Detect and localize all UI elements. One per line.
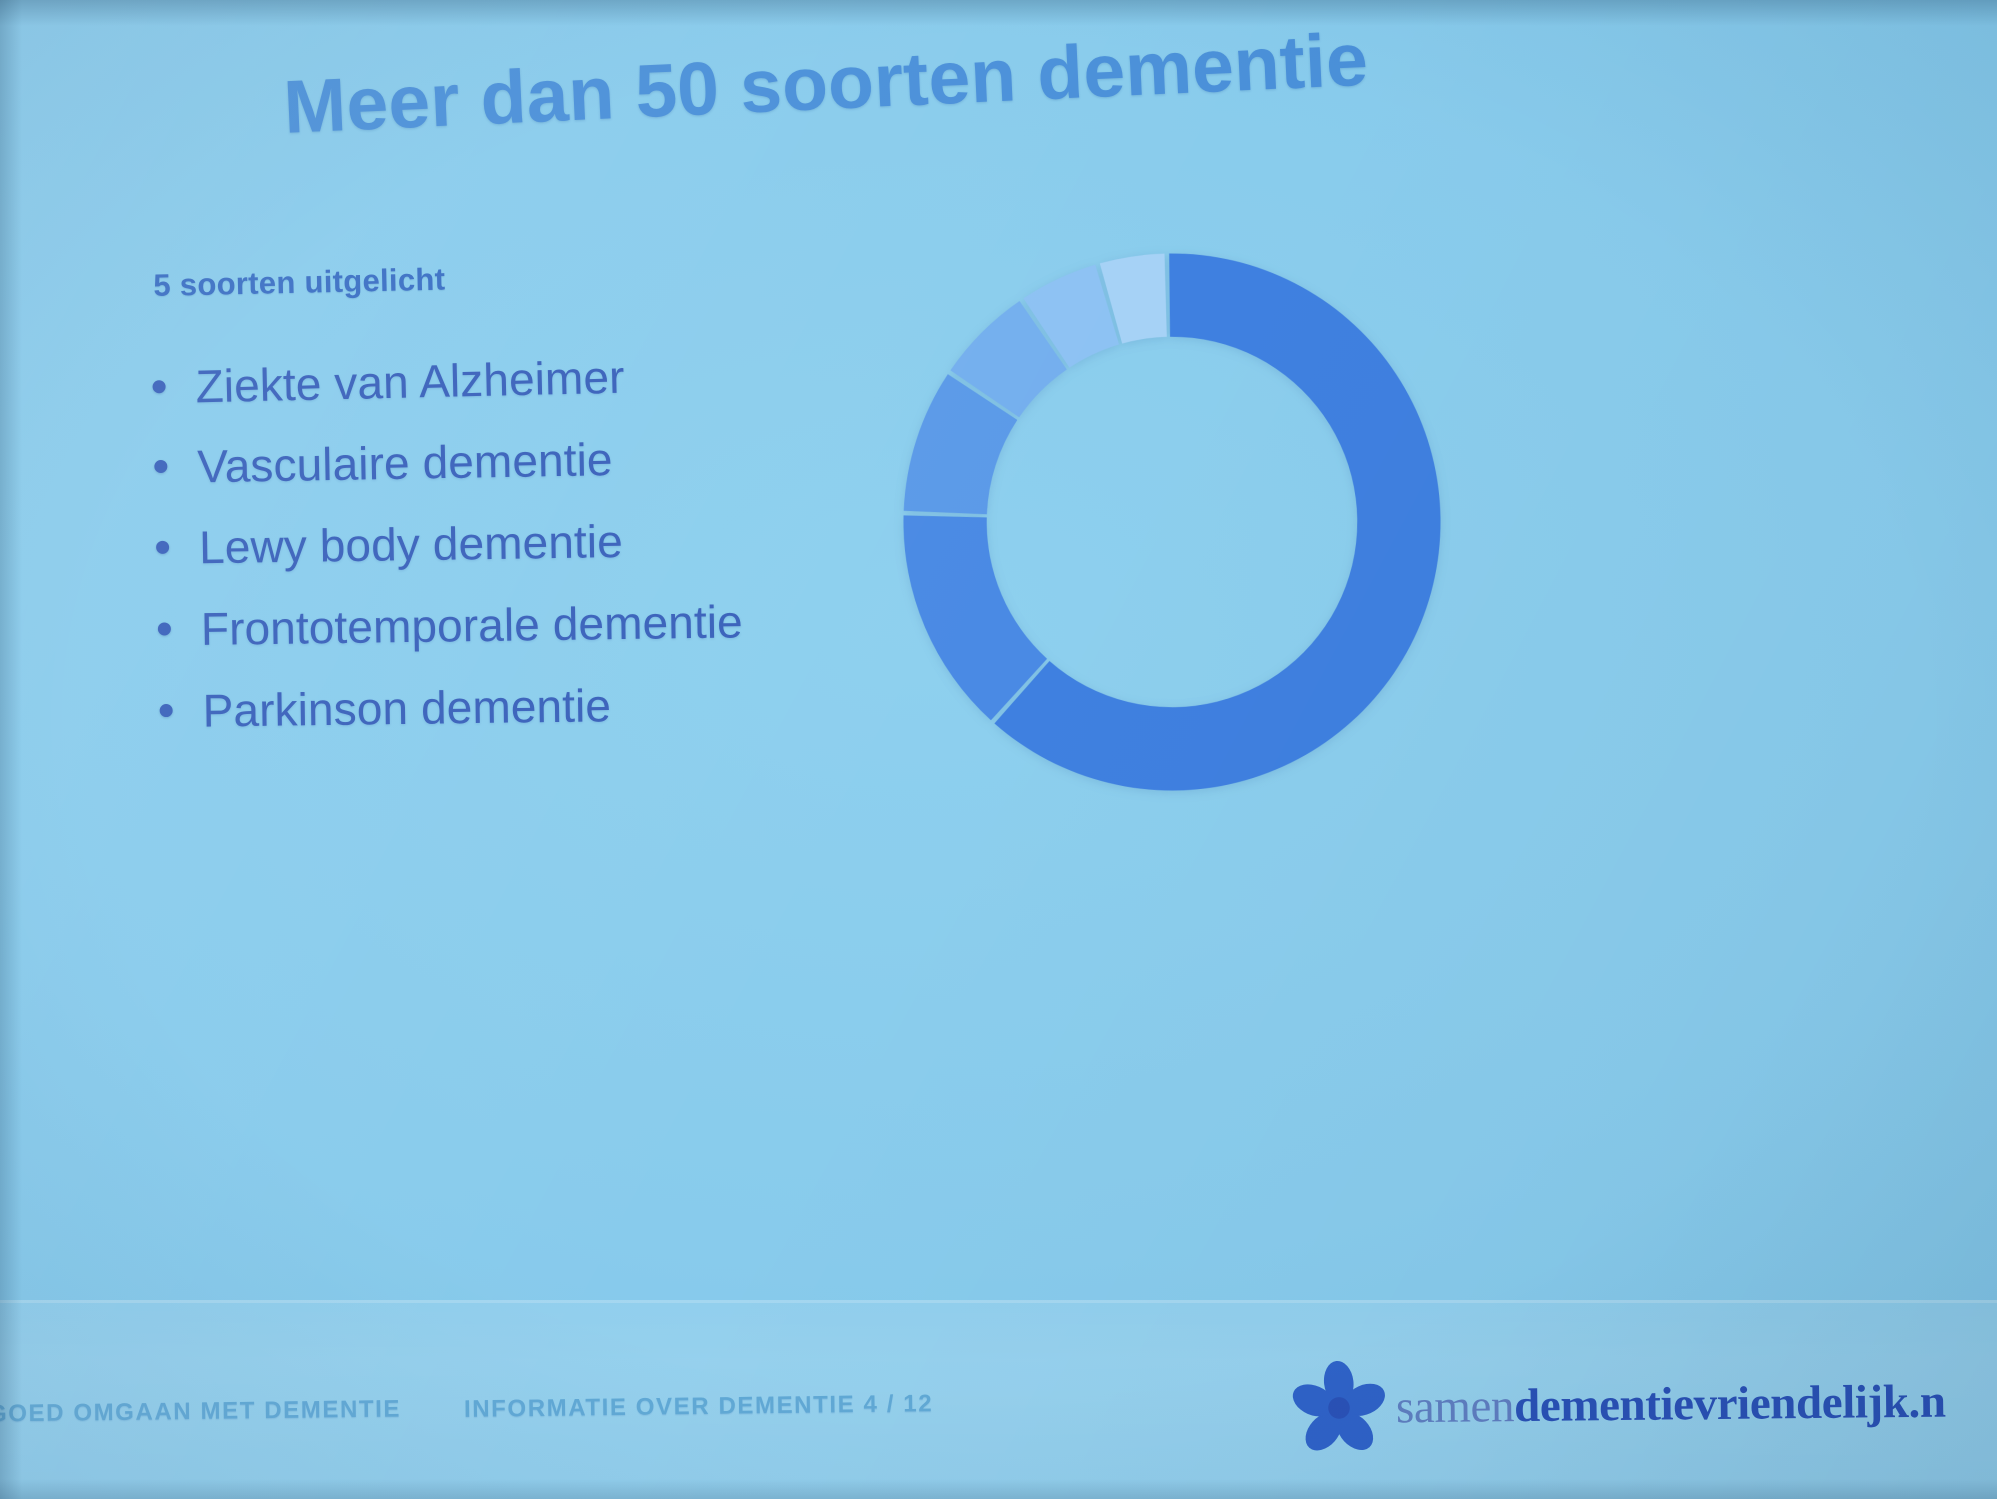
footer-band-divider [0, 1300, 1997, 1303]
flower-icon [1290, 1358, 1389, 1457]
bullet-dot-icon [154, 460, 167, 473]
donut-chart [893, 243, 1451, 801]
list-item-label: Lewy body dementie [199, 514, 623, 574]
dementia-types-list: Ziekte van Alzheimer Vasculaire dementie… [152, 341, 1020, 742]
list-item: Frontotemporale dementie [158, 591, 1019, 657]
list-item: Lewy body dementie [156, 508, 1017, 575]
content-column: 5 soorten uitgelicht Ziekte van Alzheime… [150, 249, 1021, 770]
list-item: Parkinson dementie [159, 673, 1020, 738]
list-item: Vasculaire dementie [154, 425, 1015, 494]
list-item-label: Parkinson dementie [202, 678, 611, 737]
bullet-dot-icon [160, 704, 173, 717]
presentation-slide: Meer dan 50 soorten dementie 5 soorten u… [0, 0, 1997, 1499]
bullet-dot-icon [156, 541, 169, 554]
bullet-dot-icon [152, 380, 165, 393]
footer-left-label: GOED OMGAAN MET DEMENTIE [0, 1395, 401, 1428]
brand-logo-text-bold: dementievriendelijk.n [1514, 1376, 1946, 1433]
list-item: Ziekte van Alzheimer [152, 341, 1013, 414]
list-item-label: Vasculaire dementie [197, 432, 613, 493]
list-item-label: Ziekte van Alzheimer [195, 350, 625, 414]
footer-section-label: INFORMATIE OVER DEMENTIE 4 / 12 [464, 1390, 934, 1424]
bullet-dot-icon [158, 622, 171, 635]
donut-chart-svg [893, 243, 1451, 801]
brand-logo-text: samendementievriendelijk.n [1396, 1375, 1946, 1435]
brand-logo[interactable]: samendementievriendelijk.n [1290, 1353, 1947, 1458]
list-item-label: Frontotemporale dementie [201, 594, 744, 656]
brand-logo-text-light: samen [1396, 1380, 1515, 1433]
donut-segment-group [898, 248, 1445, 795]
